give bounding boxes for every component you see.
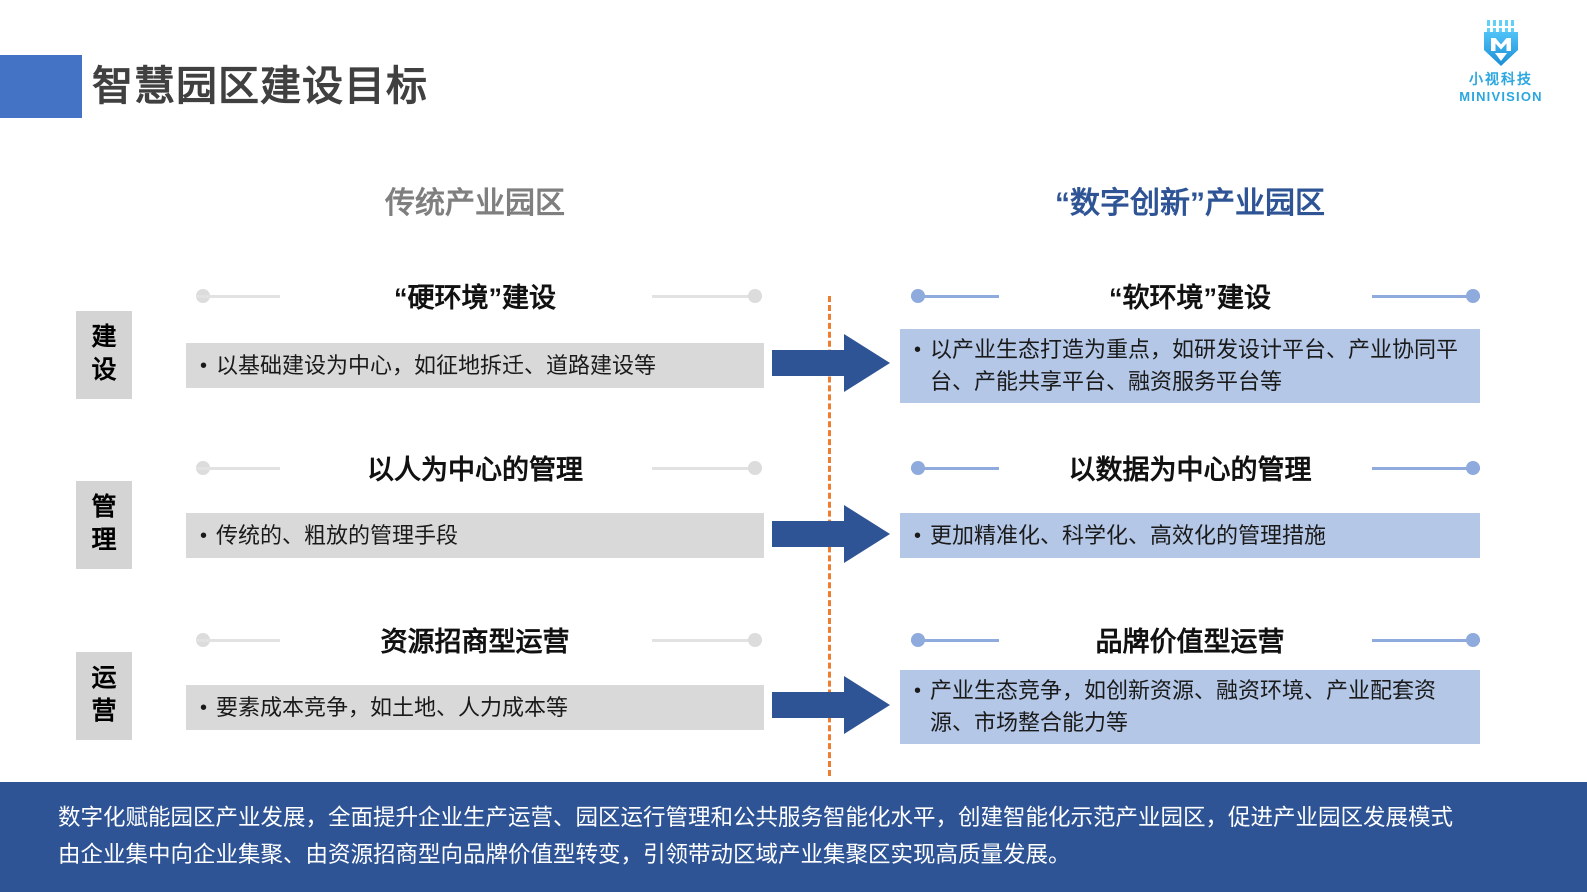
row-label-char: 营 bbox=[76, 695, 132, 728]
bullet-item: 要素成本竞争，如土地、人力成本等 bbox=[200, 692, 752, 724]
transition-arrow bbox=[772, 505, 890, 563]
connector-bar bbox=[911, 295, 999, 298]
summary-banner: 数字化赋能园区产业发展，全面提升企业生产运营、园区运行管理和公共服务智能化水平，… bbox=[0, 782, 1587, 892]
connector-bar bbox=[1372, 295, 1480, 298]
connector-dot bbox=[748, 289, 762, 303]
bullet-list: 更加精准化、科学化、高效化的管理措施 bbox=[914, 520, 1468, 552]
content-box-left: 以基础建设为中心，如征地拆迁、道路建设等 bbox=[186, 343, 764, 388]
page-title: 智慧园区建设目标 bbox=[92, 57, 428, 115]
row-label-char: 管 bbox=[76, 491, 132, 524]
connector-line-left bbox=[196, 289, 280, 303]
content-box-left: 传统的、粗放的管理手段 bbox=[186, 513, 764, 558]
logo-cn-name: 小视科技 bbox=[1435, 69, 1567, 89]
bullet-list: 传统的、粗放的管理手段 bbox=[200, 520, 752, 552]
bullet-list: 以基础建设为中心，如征地拆迁、道路建设等 bbox=[200, 350, 752, 382]
connector-line-left bbox=[652, 633, 762, 647]
connector-line-right bbox=[1372, 289, 1480, 303]
bullet-item: 更加精准化、科学化、高效化的管理措施 bbox=[914, 520, 1468, 552]
connector-line-left bbox=[196, 461, 280, 475]
row-label-char: 运 bbox=[76, 662, 132, 695]
connector-line-right bbox=[1372, 633, 1480, 647]
connector-dot bbox=[748, 633, 762, 647]
row-label-char: 设 bbox=[76, 354, 132, 387]
connector-bar bbox=[1372, 639, 1480, 642]
right-arrow-icon bbox=[772, 505, 890, 563]
bullet-item: 以产业生态打造为重点，如研发设计平台、产业协同平台、产能共享平台、融资服务平台等 bbox=[914, 334, 1468, 398]
connector-dot bbox=[1466, 289, 1480, 303]
bullet-item: 传统的、粗放的管理手段 bbox=[200, 520, 752, 552]
logo-en-name: MINIVISION bbox=[1435, 89, 1567, 104]
row-label-operation: 运 营 bbox=[76, 652, 132, 740]
connector-line-left bbox=[652, 289, 762, 303]
connector-bar bbox=[196, 467, 280, 470]
right-arrow-icon bbox=[772, 334, 890, 392]
connector-line-right bbox=[911, 461, 999, 475]
connector-bar bbox=[652, 467, 762, 470]
bullet-list: 以产业生态打造为重点，如研发设计平台、产业协同平台、产能共享平台、融资服务平台等 bbox=[914, 334, 1468, 398]
connector-line-right bbox=[911, 633, 999, 647]
brand-logo: 小视科技 MINIVISION bbox=[1435, 18, 1567, 104]
connector-dot bbox=[748, 461, 762, 475]
bullet-list: 产业生态竞争，如创新资源、融资环境、产业配套资源、市场整合能力等 bbox=[914, 675, 1468, 739]
connector-line-left bbox=[652, 461, 762, 475]
bullet-item: 以基础建设为中心，如征地拆迁、道路建设等 bbox=[200, 350, 752, 382]
bullet-list: 要素成本竞争，如土地、人力成本等 bbox=[200, 692, 752, 724]
content-box-left: 要素成本竞争，如土地、人力成本等 bbox=[186, 685, 764, 730]
content-box-right: 更加精准化、科学化、高效化的管理措施 bbox=[900, 513, 1480, 558]
connector-bar bbox=[911, 467, 999, 470]
bullet-item: 产业生态竞争，如创新资源、融资环境、产业配套资源、市场整合能力等 bbox=[914, 675, 1468, 739]
connector-dot bbox=[1466, 633, 1480, 647]
summary-line-1: 数字化赋能园区产业发展，全面提升企业生产运营、园区运行管理和公共服务智能化水平，… bbox=[58, 799, 1537, 836]
right-arrow-icon bbox=[772, 676, 890, 734]
title-accent-block bbox=[0, 55, 82, 118]
connector-bar bbox=[196, 295, 280, 298]
slide-canvas: 智慧园区建设目标 bbox=[0, 0, 1587, 892]
summary-line-2: 由企业集中向企业集聚、由资源招商型向品牌价值型转变，引领带动区域产业集聚区实现高… bbox=[58, 836, 1537, 873]
transition-arrow bbox=[772, 676, 890, 734]
content-box-right: 产业生态竞争，如创新资源、融资环境、产业配套资源、市场整合能力等 bbox=[900, 670, 1480, 744]
connector-bar bbox=[196, 639, 280, 642]
connector-bar bbox=[652, 295, 762, 298]
column-header-traditional: 传统产业园区 bbox=[186, 178, 764, 222]
content-box-right: 以产业生态打造为重点，如研发设计平台、产业协同平台、产能共享平台、融资服务平台等 bbox=[900, 329, 1480, 403]
connector-bar bbox=[652, 639, 762, 642]
connector-line-right bbox=[1372, 461, 1480, 475]
minivision-shield-icon bbox=[1475, 18, 1527, 68]
row-label-construction: 建 设 bbox=[76, 311, 132, 399]
connector-line-right bbox=[911, 289, 999, 303]
row-label-char: 建 bbox=[76, 321, 132, 354]
transition-arrow bbox=[772, 334, 890, 392]
connector-bar bbox=[911, 639, 999, 642]
connector-line-left bbox=[196, 633, 280, 647]
connector-dot bbox=[1466, 461, 1480, 475]
row-label-management: 管 理 bbox=[76, 481, 132, 569]
connector-bar bbox=[1372, 467, 1480, 470]
row-label-char: 理 bbox=[76, 524, 132, 557]
column-header-digital: “数字创新”产业园区 bbox=[900, 178, 1480, 222]
